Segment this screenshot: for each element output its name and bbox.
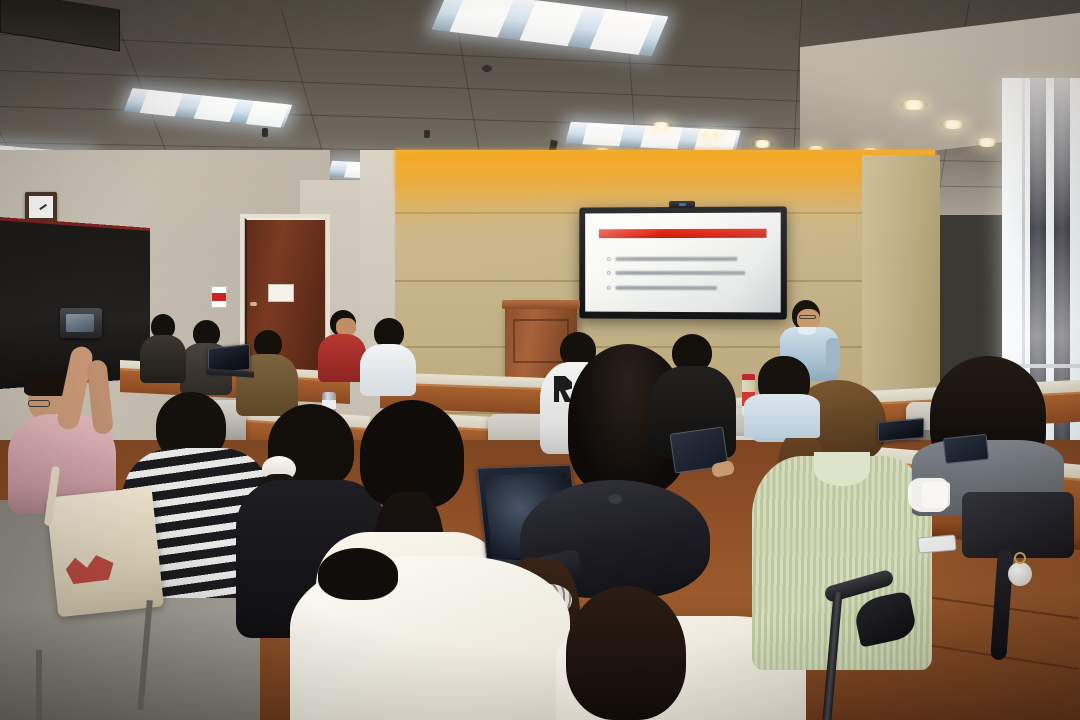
- screen-glare: [585, 213, 781, 313]
- attendee-photographer: [8, 352, 118, 512]
- torso: [744, 394, 820, 438]
- torso: [318, 334, 366, 382]
- attendee-white-shirt: [360, 318, 416, 394]
- bag-keychain: [1008, 562, 1032, 586]
- attendee-lightblue-rear: [744, 356, 820, 432]
- presenter-glasses: [799, 315, 816, 319]
- torso: [360, 344, 416, 396]
- attendee-red-shirt: [318, 310, 366, 380]
- camera-screen: [66, 314, 94, 332]
- hair: [566, 586, 686, 720]
- fire-safety-sign: [211, 286, 227, 308]
- attendee-rear-left: [140, 314, 186, 380]
- downlight: [900, 100, 928, 110]
- display-webcam: [669, 201, 695, 208]
- display-screen[interactable]: [585, 213, 781, 313]
- downlight: [752, 140, 773, 148]
- smartphone[interactable]: [917, 534, 956, 553]
- downlight: [940, 120, 966, 129]
- wall-clock: [25, 192, 57, 222]
- wall-display[interactable]: [579, 206, 787, 319]
- presenter-collar: [798, 327, 816, 335]
- tissue: [908, 478, 948, 512]
- bag-keychain-ring: [1014, 552, 1026, 564]
- downlight: [975, 138, 999, 147]
- lecture-hall-photograph: (blurred text line 1) (blurred text line…: [0, 0, 1080, 720]
- notice-sign: [268, 284, 294, 302]
- lectern-top: [502, 300, 580, 309]
- glasses: [28, 400, 50, 407]
- downlight: [700, 132, 721, 140]
- chair-leg: [36, 650, 42, 720]
- pinstripe-jacket: [752, 456, 932, 670]
- backpack: [962, 492, 1074, 558]
- tablet[interactable]: [943, 434, 989, 464]
- laptop[interactable]: [878, 418, 924, 442]
- cap-button: [608, 494, 622, 504]
- door-handle[interactable]: [250, 302, 257, 306]
- hair: [318, 548, 398, 600]
- downlight: [650, 122, 672, 130]
- torso: [140, 335, 186, 383]
- presenter-arm: [826, 338, 840, 372]
- tote-bag: [46, 487, 164, 617]
- jacket-collar: [814, 452, 870, 486]
